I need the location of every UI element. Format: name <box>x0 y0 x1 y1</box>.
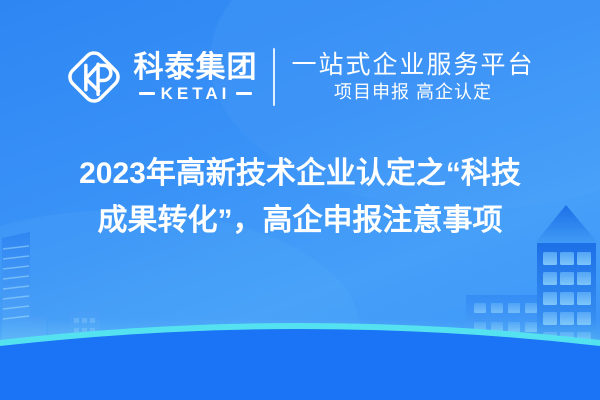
brand-dash-left-icon <box>139 92 155 95</box>
tagline-main: 一站式企业服务平台 <box>291 53 534 78</box>
tagline-block: 一站式企业服务平台 项目申报 高企认定 <box>291 53 534 101</box>
brand-name-cn: 科泰集团 <box>133 53 257 83</box>
brand-name-en: KETAI <box>161 85 231 102</box>
page-title-line-1: 2023年高新技术企业认定之“科技 <box>30 150 570 197</box>
brand-lockup: 科泰集团 KETAI <box>65 48 257 106</box>
banner-header: 科泰集团 KETAI 一站式企业服务平台 项目申报 高企认定 <box>0 38 600 116</box>
ketai-diamond-monogram-icon <box>65 48 123 106</box>
brand-text: 科泰集团 KETAI <box>133 53 257 102</box>
brand-dash-right-icon <box>236 92 252 95</box>
brand-name-en-row: KETAI <box>133 85 257 102</box>
tagline-sub: 项目申报 高企认定 <box>291 83 534 101</box>
promo-banner: 科泰集团 KETAI 一站式企业服务平台 项目申报 高企认定 2023年高新技术… <box>0 0 600 400</box>
bottom-arc-divider <box>0 310 600 400</box>
page-title-line-2: 成果转化”，高企申报注意事项 <box>30 197 570 244</box>
page-title: 2023年高新技术企业认定之“科技 成果转化”，高企申报注意事项 <box>0 150 600 244</box>
header-divider <box>273 48 275 106</box>
